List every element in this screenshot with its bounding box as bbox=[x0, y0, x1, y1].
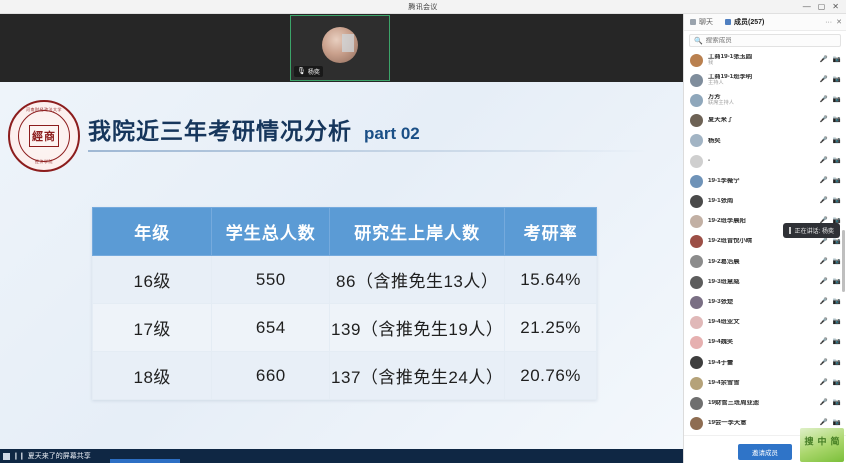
camera-off-icon[interactable]: 📷 bbox=[833, 259, 841, 266]
member-list-item[interactable]: 19-4班亚文🎤📷 bbox=[684, 312, 846, 332]
member-status-icons: 🎤📷 bbox=[820, 158, 841, 165]
member-name: 19-2葛浩晨 bbox=[708, 259, 815, 266]
member-status-icons: 🎤📷 bbox=[820, 77, 841, 84]
table-header-total-students: 学生总人数 bbox=[212, 208, 330, 256]
cell-rate: 21.25% bbox=[505, 304, 597, 352]
member-text: 19-1李薇宁 bbox=[708, 178, 815, 185]
seal-center-text: 經商 bbox=[29, 125, 59, 147]
table-header-rate: 考研率 bbox=[505, 208, 597, 256]
camera-off-icon[interactable]: 📷 bbox=[833, 360, 841, 367]
slide-title-part: part 02 bbox=[364, 124, 420, 143]
mic-off-icon[interactable]: 🎤 bbox=[820, 57, 828, 64]
member-role: 主持人 bbox=[708, 81, 815, 86]
camera-off-icon[interactable]: 📷 bbox=[833, 420, 841, 427]
window-title-bar: 腾讯会议 — ▢ ✕ bbox=[0, 0, 846, 14]
camera-off-icon[interactable]: 📷 bbox=[833, 380, 841, 387]
avatar bbox=[690, 316, 703, 329]
members-icon bbox=[725, 19, 731, 25]
close-button[interactable]: ✕ bbox=[832, 3, 839, 11]
pause-share-icon[interactable]: ❙❙ bbox=[13, 453, 25, 460]
member-list-item[interactable]: -🎤📷 bbox=[684, 151, 846, 171]
avatar bbox=[690, 175, 703, 188]
member-name: 工商19-1班李明 bbox=[708, 74, 815, 81]
cell-rate: 15.64% bbox=[505, 256, 597, 304]
member-text: 工商19-1张玉圆我 bbox=[708, 54, 815, 66]
avatar bbox=[690, 134, 703, 147]
member-role: 我 bbox=[708, 61, 815, 66]
avatar bbox=[690, 54, 703, 67]
more-options-icon[interactable]: ··· bbox=[825, 19, 832, 26]
cell-grade: 16级 bbox=[93, 256, 212, 304]
maximize-button[interactable]: ▢ bbox=[818, 3, 826, 11]
member-list-scrollbar[interactable] bbox=[842, 50, 845, 435]
minimize-button[interactable]: — bbox=[803, 3, 811, 11]
invite-members-button[interactable]: 邀请成员 bbox=[738, 444, 792, 460]
member-text: 19财管三班周亚迪 bbox=[708, 400, 815, 407]
camera-off-icon[interactable]: 📷 bbox=[833, 138, 841, 145]
cell-grade: 18级 bbox=[93, 352, 212, 400]
member-name: 19-3张楚 bbox=[708, 299, 815, 306]
side-panel: 聊天 成员(257) ··· ✕ 🔍 工商19-1张玉圆我🎤📷工商19-1班李明… bbox=[683, 14, 846, 463]
member-list-item[interactable]: 19-4于蕾🎤📷 bbox=[684, 353, 846, 373]
member-name: 19-4余雪雪 bbox=[708, 380, 815, 387]
camera-off-icon[interactable]: 📷 bbox=[833, 239, 841, 246]
member-text: 19-3班慧威 bbox=[708, 279, 815, 286]
stop-share-icon[interactable] bbox=[3, 453, 10, 460]
member-text: 夏天来了 bbox=[708, 117, 815, 124]
screen-share-status-bar: ❙❙ 夏天来了的屏幕共享 bbox=[0, 449, 683, 463]
member-text: 19-1张雨 bbox=[708, 198, 815, 205]
search-box[interactable]: 🔍 bbox=[689, 34, 841, 47]
member-text: 19-3张楚 bbox=[708, 299, 815, 306]
member-text: 方芳联席主持人 bbox=[708, 94, 815, 106]
member-status-icons: 🎤📷 bbox=[820, 117, 841, 124]
member-text: 杨奕 bbox=[708, 138, 815, 145]
member-list-item[interactable]: 19-1张雨🎤📷 bbox=[684, 191, 846, 211]
close-panel-icon[interactable]: ✕ bbox=[836, 19, 842, 26]
camera-off-icon[interactable]: 📷 bbox=[833, 97, 841, 104]
member-list-item[interactable]: 19-2葛浩晨🎤📷 bbox=[684, 252, 846, 272]
mic-off-icon[interactable]: 🎤 bbox=[820, 380, 828, 387]
avatar bbox=[690, 397, 703, 410]
member-list-item[interactable]: 夏天来了🎤📷 bbox=[684, 111, 846, 131]
mic-off-icon[interactable]: 🎤 bbox=[820, 77, 828, 84]
avatar bbox=[690, 235, 703, 248]
speaking-notification-text: 正在讲话: 杨奕 bbox=[795, 226, 834, 235]
camera-off-icon[interactable]: 📷 bbox=[833, 57, 841, 64]
member-status-icons: 🎤📷 bbox=[820, 299, 841, 306]
table-row: 17级 654 139（含推免生19人） 21.25% bbox=[93, 304, 597, 352]
avatar bbox=[690, 255, 703, 268]
mic-off-icon[interactable]: 🎤 bbox=[820, 97, 828, 104]
exam-statistics-table: 年级 学生总人数 研究生上岸人数 考研率 16级 550 86（含推免生13人）… bbox=[92, 207, 597, 400]
slide-title: 我院近三年考研情况分析part 02 bbox=[88, 112, 420, 146]
slide-header: 河南财经政法大学 經商 经济学院 我院近三年考研情况分析part 02 bbox=[0, 98, 683, 160]
member-text: 19-2葛浩晨 bbox=[708, 259, 815, 266]
member-list-item[interactable]: 杨奕🎤📷 bbox=[684, 131, 846, 151]
mic-off-icon[interactable]: 🎤 bbox=[820, 158, 828, 165]
camera-off-icon[interactable]: 📷 bbox=[833, 198, 841, 205]
avatar bbox=[690, 74, 703, 87]
member-status-icons: 🎤📷 bbox=[820, 239, 841, 246]
video-tile-name: 杨奕 bbox=[308, 67, 320, 76]
member-list-item[interactable]: 工商19-1张玉圆我🎤📷 bbox=[684, 50, 846, 70]
mic-off-icon[interactable]: 🎤 bbox=[820, 319, 828, 326]
panel-tab-bar: 聊天 成员(257) ··· ✕ bbox=[684, 14, 846, 31]
cell-admitted-count: 139（含推免生19人） bbox=[330, 304, 505, 352]
cell-admitted-count: 137（含推免生24人） bbox=[330, 352, 505, 400]
cell-rate: 20.76% bbox=[505, 352, 597, 400]
member-name: 19-3班慧威 bbox=[708, 279, 815, 286]
member-name: - bbox=[708, 158, 815, 165]
member-status-icons: 🎤📷 bbox=[820, 360, 841, 367]
table-header-row: 年级 学生总人数 研究生上岸人数 考研率 bbox=[93, 208, 597, 256]
camera-off-icon[interactable]: 📷 bbox=[833, 178, 841, 185]
camera-off-icon[interactable]: 📷 bbox=[833, 117, 841, 124]
watermark-text: 简中搜 bbox=[803, 437, 842, 454]
member-list-item[interactable]: 19-1李薇宁🎤📷 bbox=[684, 171, 846, 191]
window-title: 腾讯会议 bbox=[408, 2, 437, 12]
mic-off-icon[interactable]: 🎤 bbox=[820, 117, 828, 124]
video-strip: 🎙 杨奕 bbox=[0, 14, 683, 82]
avatar bbox=[690, 94, 703, 107]
member-status-icons: 🎤📷 bbox=[820, 178, 841, 185]
avatar bbox=[690, 296, 703, 309]
avatar bbox=[690, 336, 703, 349]
member-status-icons: 🎤📷 bbox=[820, 279, 841, 286]
cell-total-students: 550 bbox=[212, 256, 330, 304]
member-list-item[interactable]: 19-4魏笑🎤📷 bbox=[684, 333, 846, 353]
search-input[interactable] bbox=[706, 37, 836, 44]
member-status-icons: 🎤📷 bbox=[820, 57, 841, 64]
member-status-icons: 🎤📷 bbox=[820, 198, 841, 205]
speaking-notification-toast: 正在讲话: 杨奕 bbox=[783, 223, 840, 238]
member-text: 工商19-1班李明主持人 bbox=[708, 74, 815, 86]
mic-off-icon[interactable]: 🎤 bbox=[820, 239, 828, 246]
member-status-icons: 🎤📷 bbox=[820, 420, 841, 427]
avatar bbox=[690, 215, 703, 228]
taskbar-highlight bbox=[110, 459, 180, 463]
cell-grade: 17级 bbox=[93, 304, 212, 352]
member-status-icons: 🎤📷 bbox=[820, 259, 841, 266]
member-role: 联席主持人 bbox=[708, 101, 815, 106]
chat-icon bbox=[690, 19, 696, 25]
mic-off-icon[interactable]: 🎤 bbox=[820, 198, 828, 205]
camera-off-icon[interactable]: 📷 bbox=[833, 279, 841, 286]
avatar bbox=[690, 276, 703, 289]
member-status-icons: 🎤📷 bbox=[820, 97, 841, 104]
mic-off-icon[interactable]: 🎤 bbox=[820, 299, 828, 306]
member-name: 19-4魏笑 bbox=[708, 339, 815, 346]
camera-off-icon[interactable]: 📷 bbox=[833, 77, 841, 84]
member-name: 19-4班亚文 bbox=[708, 319, 815, 326]
member-text: 19-2班曾悦小晴 bbox=[708, 238, 815, 245]
mic-icon: 🎙 bbox=[297, 68, 306, 75]
avatar bbox=[690, 377, 703, 390]
table-header-admitted-count: 研究生上岸人数 bbox=[330, 208, 505, 256]
avatar bbox=[690, 155, 703, 168]
member-list-item[interactable]: 19-3张楚🎤📷 bbox=[684, 292, 846, 312]
slide-title-main: 我院近三年考研情况分析 bbox=[88, 118, 352, 144]
tab-chat-label: 聊天 bbox=[699, 17, 713, 27]
mic-off-icon[interactable]: 🎤 bbox=[820, 259, 828, 266]
share-status-text: 夏天来了的屏幕共享 bbox=[28, 451, 91, 461]
camera-off-icon[interactable]: 📷 bbox=[833, 299, 841, 306]
title-underline bbox=[88, 150, 648, 152]
member-status-icons: 🎤📷 bbox=[820, 138, 841, 145]
university-seal-logo: 河南财经政法大学 經商 经济学院 bbox=[8, 100, 80, 172]
member-text: 19会一李天意 bbox=[708, 420, 815, 427]
camera-off-icon[interactable]: 📷 bbox=[833, 400, 841, 407]
member-status-icons: 🎤📷 bbox=[820, 380, 841, 387]
camera-off-icon[interactable]: 📷 bbox=[833, 339, 841, 346]
mic-off-icon[interactable]: 🎤 bbox=[820, 420, 828, 427]
avatar bbox=[690, 114, 703, 127]
member-text: 19-4于蕾 bbox=[708, 360, 815, 367]
table-header-grade: 年级 bbox=[93, 208, 212, 256]
member-name: 19-2班曾悦小晴 bbox=[708, 238, 815, 245]
mic-off-icon[interactable]: 🎤 bbox=[820, 400, 828, 407]
search-row: 🔍 bbox=[684, 31, 846, 49]
member-text: 19-4余雪雪 bbox=[708, 380, 815, 387]
mic-off-icon[interactable]: 🎤 bbox=[820, 279, 828, 286]
mic-on-icon[interactable]: 🎤 bbox=[820, 138, 828, 145]
meeting-stage: 🎙 杨奕 河南财经政法大学 經商 经济学院 我院近三年考研情况分析part 02 bbox=[0, 14, 683, 463]
avatar bbox=[690, 356, 703, 369]
seal-ring-bottom-text: 经济学院 bbox=[35, 159, 53, 165]
panel-footer: 邀请成员 简中搜 bbox=[684, 435, 846, 463]
member-name: 夏天来了 bbox=[708, 117, 815, 124]
member-name: 19会一李天意 bbox=[708, 420, 815, 427]
meeting-window: 腾讯会议 — ▢ ✕ 🎙 杨奕 河南财经政法大学 經商 bbox=[0, 0, 846, 463]
member-list-item[interactable]: 19财管三班周亚迪🎤📷 bbox=[684, 393, 846, 413]
cell-admitted-count: 86（含推免生13人） bbox=[330, 256, 505, 304]
member-list-item[interactable]: 方芳联席主持人🎤📷 bbox=[684, 90, 846, 110]
member-list-item[interactable]: 19-3班慧威🎤📷 bbox=[684, 272, 846, 292]
scrollbar-thumb[interactable] bbox=[842, 230, 845, 292]
member-name: 19-4于蕾 bbox=[708, 360, 815, 367]
panel-actions: ··· ✕ bbox=[825, 19, 846, 26]
member-text: - bbox=[708, 158, 815, 165]
mic-off-icon[interactable]: 🎤 bbox=[820, 178, 828, 185]
avatar bbox=[690, 417, 703, 430]
table-row: 16级 550 86（含推免生13人） 15.64% bbox=[93, 256, 597, 304]
watermark-logo: 简中搜 bbox=[800, 428, 844, 462]
video-tile-badge: 🎙 杨奕 bbox=[294, 66, 323, 77]
table-row: 18级 660 137（含推免生24人） 20.76% bbox=[93, 352, 597, 400]
mic-off-icon[interactable]: 🎤 bbox=[820, 339, 828, 346]
tab-members-label: 成员(257) bbox=[734, 17, 764, 27]
cell-total-students: 660 bbox=[212, 352, 330, 400]
member-status-icons: 🎤📷 bbox=[820, 339, 841, 346]
camera-off-icon[interactable]: 📷 bbox=[833, 319, 841, 326]
member-name: 杨奕 bbox=[708, 138, 815, 145]
participant-video bbox=[322, 27, 358, 63]
member-status-icons: 🎤📷 bbox=[820, 319, 841, 326]
member-text: 19-4班亚文 bbox=[708, 319, 815, 326]
search-icon: 🔍 bbox=[694, 37, 703, 45]
member-list-item[interactable]: 19-4余雪雪🎤📷 bbox=[684, 373, 846, 393]
tab-chat[interactable]: 聊天 bbox=[684, 14, 719, 31]
speaking-mic-icon bbox=[789, 227, 791, 234]
camera-off-icon[interactable]: 📷 bbox=[833, 158, 841, 165]
member-name: 19-1李薇宁 bbox=[708, 178, 815, 185]
member-text: 19-4魏笑 bbox=[708, 339, 815, 346]
seal-inner-ring: 經商 bbox=[18, 110, 70, 162]
member-name: 19财管三班周亚迪 bbox=[708, 400, 815, 407]
video-tile-active-speaker[interactable]: 🎙 杨奕 bbox=[290, 15, 390, 81]
avatar bbox=[690, 195, 703, 208]
member-name: 19-1张雨 bbox=[708, 198, 815, 205]
member-list[interactable]: 工商19-1张玉圆我🎤📷工商19-1班李明主持人🎤📷方芳联席主持人🎤📷夏天来了🎤… bbox=[684, 50, 846, 435]
member-status-icons: 🎤📷 bbox=[820, 400, 841, 407]
member-list-item[interactable]: 工商19-1班李明主持人🎤📷 bbox=[684, 70, 846, 90]
window-controls: — ▢ ✕ bbox=[803, 0, 844, 14]
member-name: 工商19-1张玉圆 bbox=[708, 54, 815, 61]
shared-screen-slide: 河南财经政法大学 經商 经济学院 我院近三年考研情况分析part 02 年级 学… bbox=[0, 82, 683, 463]
cell-total-students: 654 bbox=[212, 304, 330, 352]
tab-members[interactable]: 成员(257) bbox=[719, 14, 770, 31]
mic-off-icon[interactable]: 🎤 bbox=[820, 360, 828, 367]
